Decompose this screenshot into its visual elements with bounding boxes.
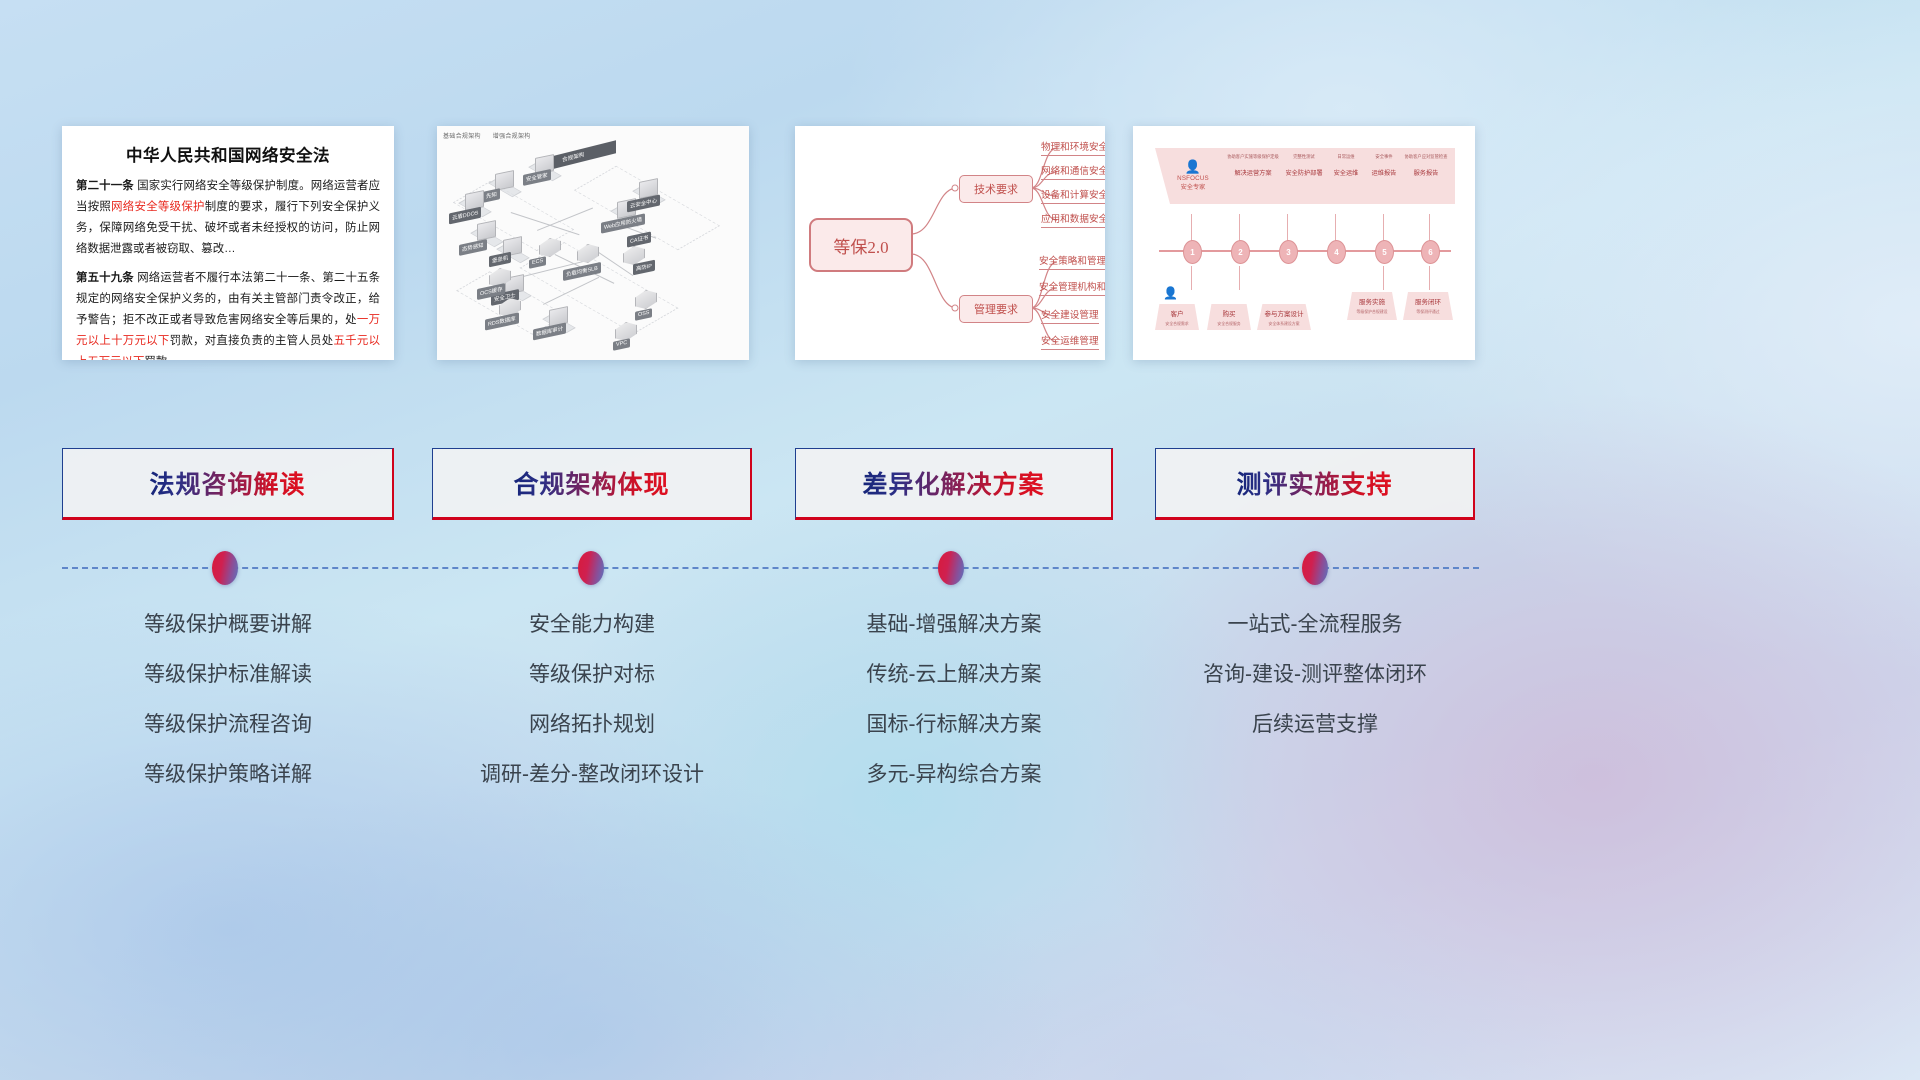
roadmap-bottom-tag: 服务闭环 等保测评通过	[1403, 292, 1453, 320]
illustration-cards: 中华人民共和国网络安全法 第二十一条 国家实行网络安全等级保护制度。网络运营者应…	[0, 126, 1920, 364]
list-item: 一站式-全流程服务	[1155, 600, 1475, 650]
section-title-row: 法规咨询解读 合规架构体现 差异化解决方案 测评实施支持	[0, 448, 1920, 524]
roadmap-tag-sub: 安全合规需求	[1155, 321, 1199, 327]
service-item-columns: 等级保护概要讲解 等级保护标准解读 等级保护流程咨询 等级保护策略详解 安全能力…	[0, 600, 1920, 820]
roadmap-step[interactable]: 2	[1231, 240, 1250, 264]
mindmap-root-label: 等保2.0	[833, 233, 888, 258]
roadmap-top-main: 安全防护部署	[1279, 168, 1329, 177]
roadmap-top-main: 服务报告	[1401, 168, 1451, 177]
roadmap-top-item: 安全事件 运维报告	[1363, 154, 1405, 177]
law-article-21: 第二十一条 国家实行网络安全等级保护制度。网络运营者应当按照网络安全等级保护制度…	[76, 176, 380, 260]
arch-node-label: VPC	[613, 338, 630, 350]
roadmap-tag-title: 服务闭环	[1403, 296, 1453, 306]
roadmap-top-sub: 协助客户应对监管检查	[1401, 154, 1451, 160]
mindmap-leaf: 安全运维管理	[1041, 333, 1099, 350]
roadmap-tag-sub: 安全合规服务	[1207, 321, 1251, 327]
list-item: 安全能力构建	[432, 600, 752, 650]
service-column-2: 安全能力构建 等级保护对标 网络拓扑规划 调研-差分-整改闭环设计	[432, 600, 752, 800]
section-title-label: 测评实施支持	[1236, 465, 1392, 501]
list-item: 网络拓扑规划	[432, 700, 752, 750]
mindmap-leaf: 设备和计算安全	[1041, 187, 1105, 204]
roadmap-top-main: 安全运维	[1325, 168, 1367, 177]
roadmap-step-number: 4	[1334, 248, 1338, 257]
roadmap-tick	[1191, 266, 1192, 290]
roadmap-tick	[1383, 214, 1384, 242]
card-compliance-architecture[interactable]: 基础合规架构 增强合规架构 合规架构	[437, 126, 749, 360]
roadmap-bottom-tag: 服务实施 等级保护合规建设	[1347, 292, 1397, 320]
list-item: 等级保护标准解读	[62, 650, 394, 700]
timeline-dot-2[interactable]	[578, 551, 604, 585]
mindmap-leaf: 安全建设管理	[1041, 307, 1099, 324]
roadmap-tag-title: 服务实施	[1347, 296, 1397, 306]
roadmap-step[interactable]: 4	[1327, 240, 1346, 264]
list-item: 等级保护概要讲解	[62, 600, 394, 650]
list-item: 调研-差分-整改闭环设计	[432, 750, 752, 800]
timeline-dot-1[interactable]	[212, 551, 238, 585]
timeline-dot-4[interactable]	[1302, 551, 1328, 585]
arch-node-label: RDS数据库	[485, 312, 519, 330]
roadmap-brand: 👤 NSFOCUS 安全专家	[1167, 160, 1219, 191]
roadmap-tick	[1287, 214, 1288, 242]
roadmap-top-main: 运维报告	[1363, 168, 1405, 177]
roadmap-tick	[1239, 266, 1240, 290]
arch-node-label: CA证书	[627, 231, 651, 247]
roadmap-top-item: 协助客户应对监管检查 服务报告	[1401, 154, 1451, 177]
roadmap-tick	[1335, 214, 1336, 242]
list-item: 传统-云上解决方案	[795, 650, 1113, 700]
mindmap-branch-label: 技术要求	[974, 181, 1018, 197]
roadmap-top-item: 完整性测试 安全防护部署	[1279, 154, 1329, 177]
roadmap-tag-sub: 等级保护合规建设	[1347, 309, 1397, 315]
mindmap-branch-management[interactable]: 管理要求	[959, 295, 1033, 323]
roadmap-tick	[1239, 214, 1240, 242]
list-item: 等级保护对标	[432, 650, 752, 700]
section-title-box-3[interactable]: 差异化解决方案	[795, 448, 1113, 520]
law-article-59-text-b: 罚款，对直接负责的主管人员处	[170, 335, 334, 347]
law-title: 中华人民共和国网络安全法	[76, 142, 380, 166]
card-mindmap-dengbao[interactable]: 等保2.0 技术要求 管理要求 物理和环境安全 网络和通信安全 设备和计算安全 …	[795, 126, 1105, 360]
roadmap-top-main: 解决运营方案	[1225, 168, 1281, 177]
roadmap-axis	[1159, 250, 1451, 252]
section-title-box-1[interactable]: 法规咨询解读	[62, 448, 394, 520]
mindmap-branch-technical[interactable]: 技术要求	[959, 175, 1033, 203]
roadmap-bottom-tag: 参与方案设计 安全体系建设方案	[1257, 304, 1311, 330]
roadmap-tag-title: 客户	[1155, 308, 1199, 318]
section-title-label: 差异化解决方案	[862, 465, 1044, 501]
timeline-dot-3[interactable]	[938, 551, 964, 585]
list-item: 等级保护策略详解	[62, 750, 394, 800]
roadmap-tag-sub: 安全体系建设方案	[1257, 321, 1311, 327]
mindmap-branch-label: 管理要求	[974, 301, 1018, 317]
roadmap-tag-title: 参与方案设计	[1257, 308, 1311, 318]
roadmap-step[interactable]: 3	[1279, 240, 1298, 264]
roadmap-top-sub: 协助客户实施等级保护定级	[1225, 154, 1281, 160]
section-title-label: 法规咨询解读	[149, 465, 305, 501]
law-article-21-number: 第二十一条	[76, 180, 134, 192]
arch-node-label: 堡垒机	[489, 252, 511, 267]
section-title-box-2[interactable]: 合规架构体现	[432, 448, 752, 520]
service-column-3: 基础-增强解决方案 传统-云上解决方案 国标-行标解决方案 多元-异构综合方案	[795, 600, 1113, 800]
roadmap-top-sub: 完整性测试	[1279, 154, 1329, 160]
section-title-label: 合规架构体现	[513, 465, 669, 501]
mindmap-leaf: 安全管理机构和人员	[1039, 279, 1105, 296]
roadmap-bottom-tag: 客户 安全合规需求	[1155, 304, 1199, 330]
service-column-4: 一站式-全流程服务 咨询-建设-测评整体闭环 后续运营支撑	[1155, 600, 1475, 750]
arch-node-label: 安全管家	[523, 169, 551, 185]
roadmap-step[interactable]: 6	[1421, 240, 1440, 264]
roadmap-top-sub: 日常运维	[1325, 154, 1367, 160]
list-item: 多元-异构综合方案	[795, 750, 1113, 800]
list-item: 等级保护流程咨询	[62, 700, 394, 750]
service-column-1: 等级保护概要讲解 等级保护标准解读 等级保护流程咨询 等级保护策略详解	[62, 600, 394, 800]
roadmap-step-number: 5	[1382, 248, 1386, 257]
list-item: 国标-行标解决方案	[795, 700, 1113, 750]
roadmap-step[interactable]: 5	[1375, 240, 1394, 264]
arch-node-label: 态势感知	[459, 239, 487, 255]
timeline-dashed-line	[62, 567, 1479, 569]
roadmap-tick	[1383, 266, 1384, 290]
mindmap-leaf: 应用和数据安全	[1041, 211, 1105, 228]
roadmap-tag-sub: 等保测评通过	[1403, 309, 1453, 315]
roadmap-step-number: 1	[1190, 248, 1194, 257]
arch-isometric-canvas: 先知 云盾DDOS 态势感知 堡垒机 安全管家 安全卫士 数据库审计 Web应用…	[437, 126, 749, 360]
mindmap-leaf: 物理和环境安全	[1041, 139, 1105, 156]
law-article-59-text-c: 罚款。	[144, 356, 178, 360]
roadmap-tag-title: 购买	[1207, 308, 1251, 318]
mindmap-root-node[interactable]: 等保2.0	[809, 218, 913, 272]
roadmap-bottom-tag: 购买 安全合规服务	[1207, 304, 1251, 330]
section-title-box-4[interactable]: 测评实施支持	[1155, 448, 1475, 520]
mindmap-leaf: 网络和通信安全	[1041, 163, 1105, 180]
law-article-59-number: 第五十九条	[76, 272, 134, 284]
mindmap-leaf: 安全策略和管理制度	[1039, 253, 1105, 270]
roadmap-step[interactable]: 1	[1183, 240, 1202, 264]
user-icon: 👤	[1167, 160, 1219, 173]
law-article-59: 第五十九条 网络运营者不履行本法第二十一条、第二十五条规定的网络安全保护义务的，…	[76, 268, 380, 360]
roadmap-tick	[1429, 266, 1430, 290]
user-icon: 👤	[1163, 286, 1178, 300]
roadmap-brand-line1: NSFOCUS	[1167, 175, 1219, 182]
roadmap-brand-line2: 安全专家	[1167, 182, 1219, 191]
card-service-roadmap[interactable]: 👤 NSFOCUS 安全专家 协助客户实施等级保护定级 解决运营方案 完整性测试…	[1133, 126, 1475, 360]
roadmap-step-number: 2	[1238, 248, 1242, 257]
roadmap-top-item: 日常运维 安全运维	[1325, 154, 1367, 177]
roadmap-top-item: 协助客户实施等级保护定级 解决运营方案	[1225, 154, 1281, 177]
card-cybersecurity-law[interactable]: 中华人民共和国网络安全法 第二十一条 国家实行网络安全等级保护制度。网络运营者应…	[62, 126, 394, 360]
list-item: 基础-增强解决方案	[795, 600, 1113, 650]
law-article-21-highlight: 网络安全等级保护	[111, 201, 205, 213]
roadmap-top-sub: 安全事件	[1363, 154, 1405, 160]
roadmap-step-number: 6	[1428, 248, 1432, 257]
timeline	[0, 540, 1920, 600]
list-item: 咨询-建设-测评整体闭环	[1155, 650, 1475, 700]
list-item: 后续运营支撑	[1155, 700, 1475, 750]
roadmap-tick	[1429, 214, 1430, 242]
roadmap-step-number: 3	[1286, 248, 1290, 257]
roadmap-tick	[1191, 214, 1192, 242]
